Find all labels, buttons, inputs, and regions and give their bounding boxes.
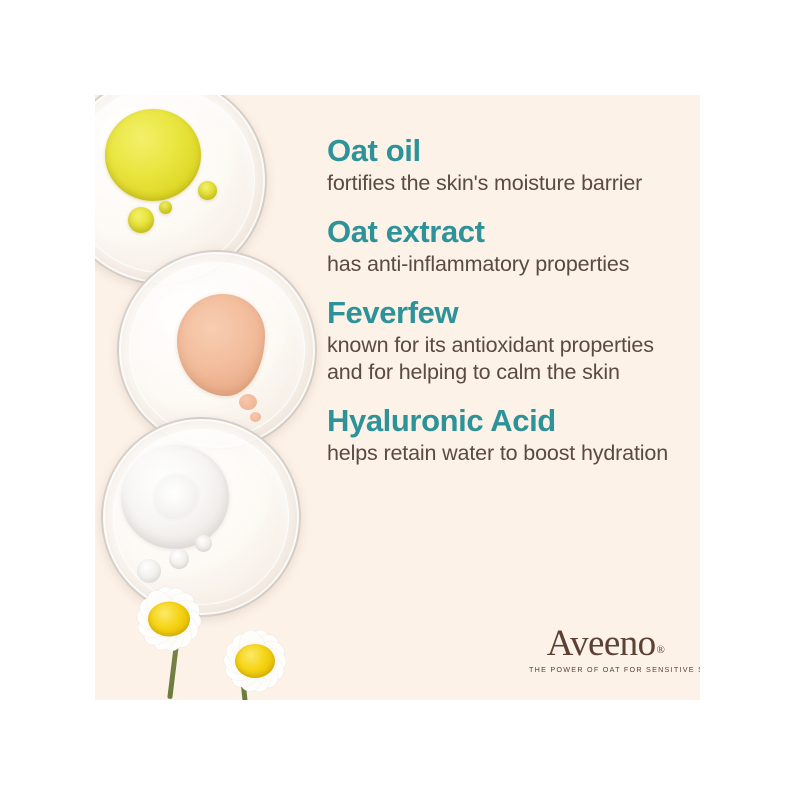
gel-droplet-3 <box>195 535 212 552</box>
extract-droplet-2 <box>250 412 261 422</box>
ingredient-block-feverfew: Feverfew known for its antioxidant prope… <box>327 297 672 386</box>
ingredient-desc-oat-extract: has anti-inflammatory properties <box>327 251 672 278</box>
daisy-center <box>148 602 190 637</box>
oil-droplet-small-2 <box>128 207 154 233</box>
ingredient-name-feverfew: Feverfew <box>327 297 672 330</box>
aveeno-tagline: THE POWER OF OAT FOR SENSITIVE SKIN <box>529 665 681 674</box>
oil-droplet-large <box>105 109 201 201</box>
image-canvas: Oat oil fortifies the skin's moisture ba… <box>0 0 800 800</box>
registered-trademark-icon: ® <box>656 644 664 656</box>
aveeno-wordmark-text: Aveeno <box>547 623 656 664</box>
ingredient-desc-hyaluronic-acid: helps retain water to boost hydration <box>327 440 672 467</box>
product-info-panel: Oat oil fortifies the skin's moisture ba… <box>95 95 700 700</box>
ingredient-block-hyaluronic-acid: Hyaluronic Acid helps retain water to bo… <box>327 405 672 467</box>
extract-blob <box>177 294 265 396</box>
ingredient-name-oat-extract: Oat extract <box>327 216 672 249</box>
aveeno-logo: Aveeno® THE POWER OF OAT FOR SENSITIVE S… <box>529 625 681 674</box>
ingredient-name-hyaluronic-acid: Hyaluronic Acid <box>327 405 672 438</box>
oil-droplet-small-1 <box>198 181 217 200</box>
ingredient-photo-column <box>95 95 345 700</box>
ingredient-block-oat-extract: Oat extract has anti-inflammatory proper… <box>327 216 672 278</box>
ingredient-desc-feverfew: known for its antioxidant properties and… <box>327 332 672 386</box>
chamomile-daisies <box>95 565 325 700</box>
gel-blob <box>121 445 229 549</box>
extract-droplet-1 <box>239 394 257 410</box>
ingredient-desc-oat-oil: fortifies the skin's moisture barrier <box>327 170 672 197</box>
ingredient-name-oat-oil: Oat oil <box>327 135 672 168</box>
oil-droplet-small-3 <box>159 201 172 214</box>
aveeno-wordmark: Aveeno® <box>529 625 681 662</box>
daisy-flower-2 <box>199 611 311 700</box>
ingredient-block-oat-oil: Oat oil fortifies the skin's moisture ba… <box>327 135 672 197</box>
daisy-center <box>235 644 275 678</box>
ingredient-list: Oat oil fortifies the skin's moisture ba… <box>327 135 672 467</box>
